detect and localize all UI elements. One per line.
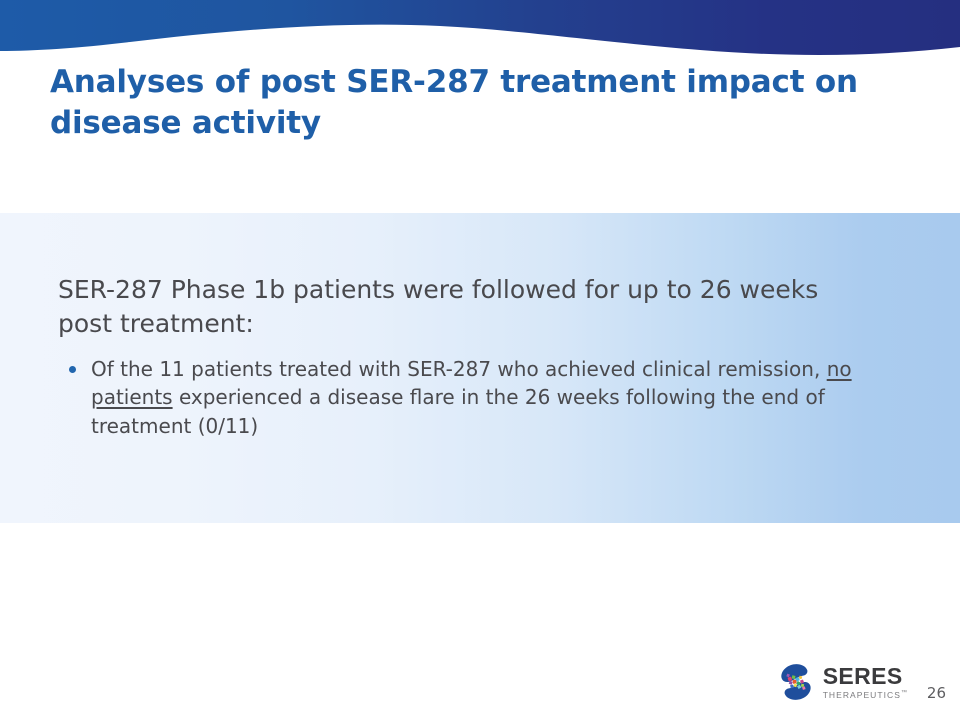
logo-company-name: SERES xyxy=(823,665,908,688)
page-number: 26 xyxy=(927,684,946,702)
header-wave-shape xyxy=(0,0,960,62)
content-panel: SER-287 Phase 1b patients were followed … xyxy=(0,213,960,523)
seres-logo-mark-icon xyxy=(776,662,816,702)
list-item: Of the 11 patients treated with SER-287 … xyxy=(58,355,920,440)
page-title: Analyses of post SER-287 treatment impac… xyxy=(50,62,910,144)
bullet-text-before: Of the 11 patients treated with SER-287 … xyxy=(91,357,827,381)
bullet-list: Of the 11 patients treated with SER-287 … xyxy=(58,355,920,440)
title-block: Analyses of post SER-287 treatment impac… xyxy=(50,62,910,144)
seres-logo: SERES THERAPEUTICS™ xyxy=(776,662,908,702)
logo-subtitle-text: THERAPEUTICS xyxy=(823,690,901,700)
seres-wordmark: SERES THERAPEUTICS™ xyxy=(823,665,908,699)
header-wave-banner xyxy=(0,0,960,62)
content-inner: SER-287 Phase 1b patients were followed … xyxy=(58,213,920,440)
logo-company-subtitle: THERAPEUTICS™ xyxy=(823,690,908,699)
bullet-text-after: experienced a disease flare in the 26 we… xyxy=(91,385,825,437)
slide-canvas: Analyses of post SER-287 treatment impac… xyxy=(0,0,960,720)
slide-footer: SERES THERAPEUTICS™ 26 xyxy=(0,648,960,720)
lead-statement: SER-287 Phase 1b patients were followed … xyxy=(58,213,848,341)
bullet-dot-icon xyxy=(69,366,76,373)
trademark-icon: ™ xyxy=(901,690,908,696)
